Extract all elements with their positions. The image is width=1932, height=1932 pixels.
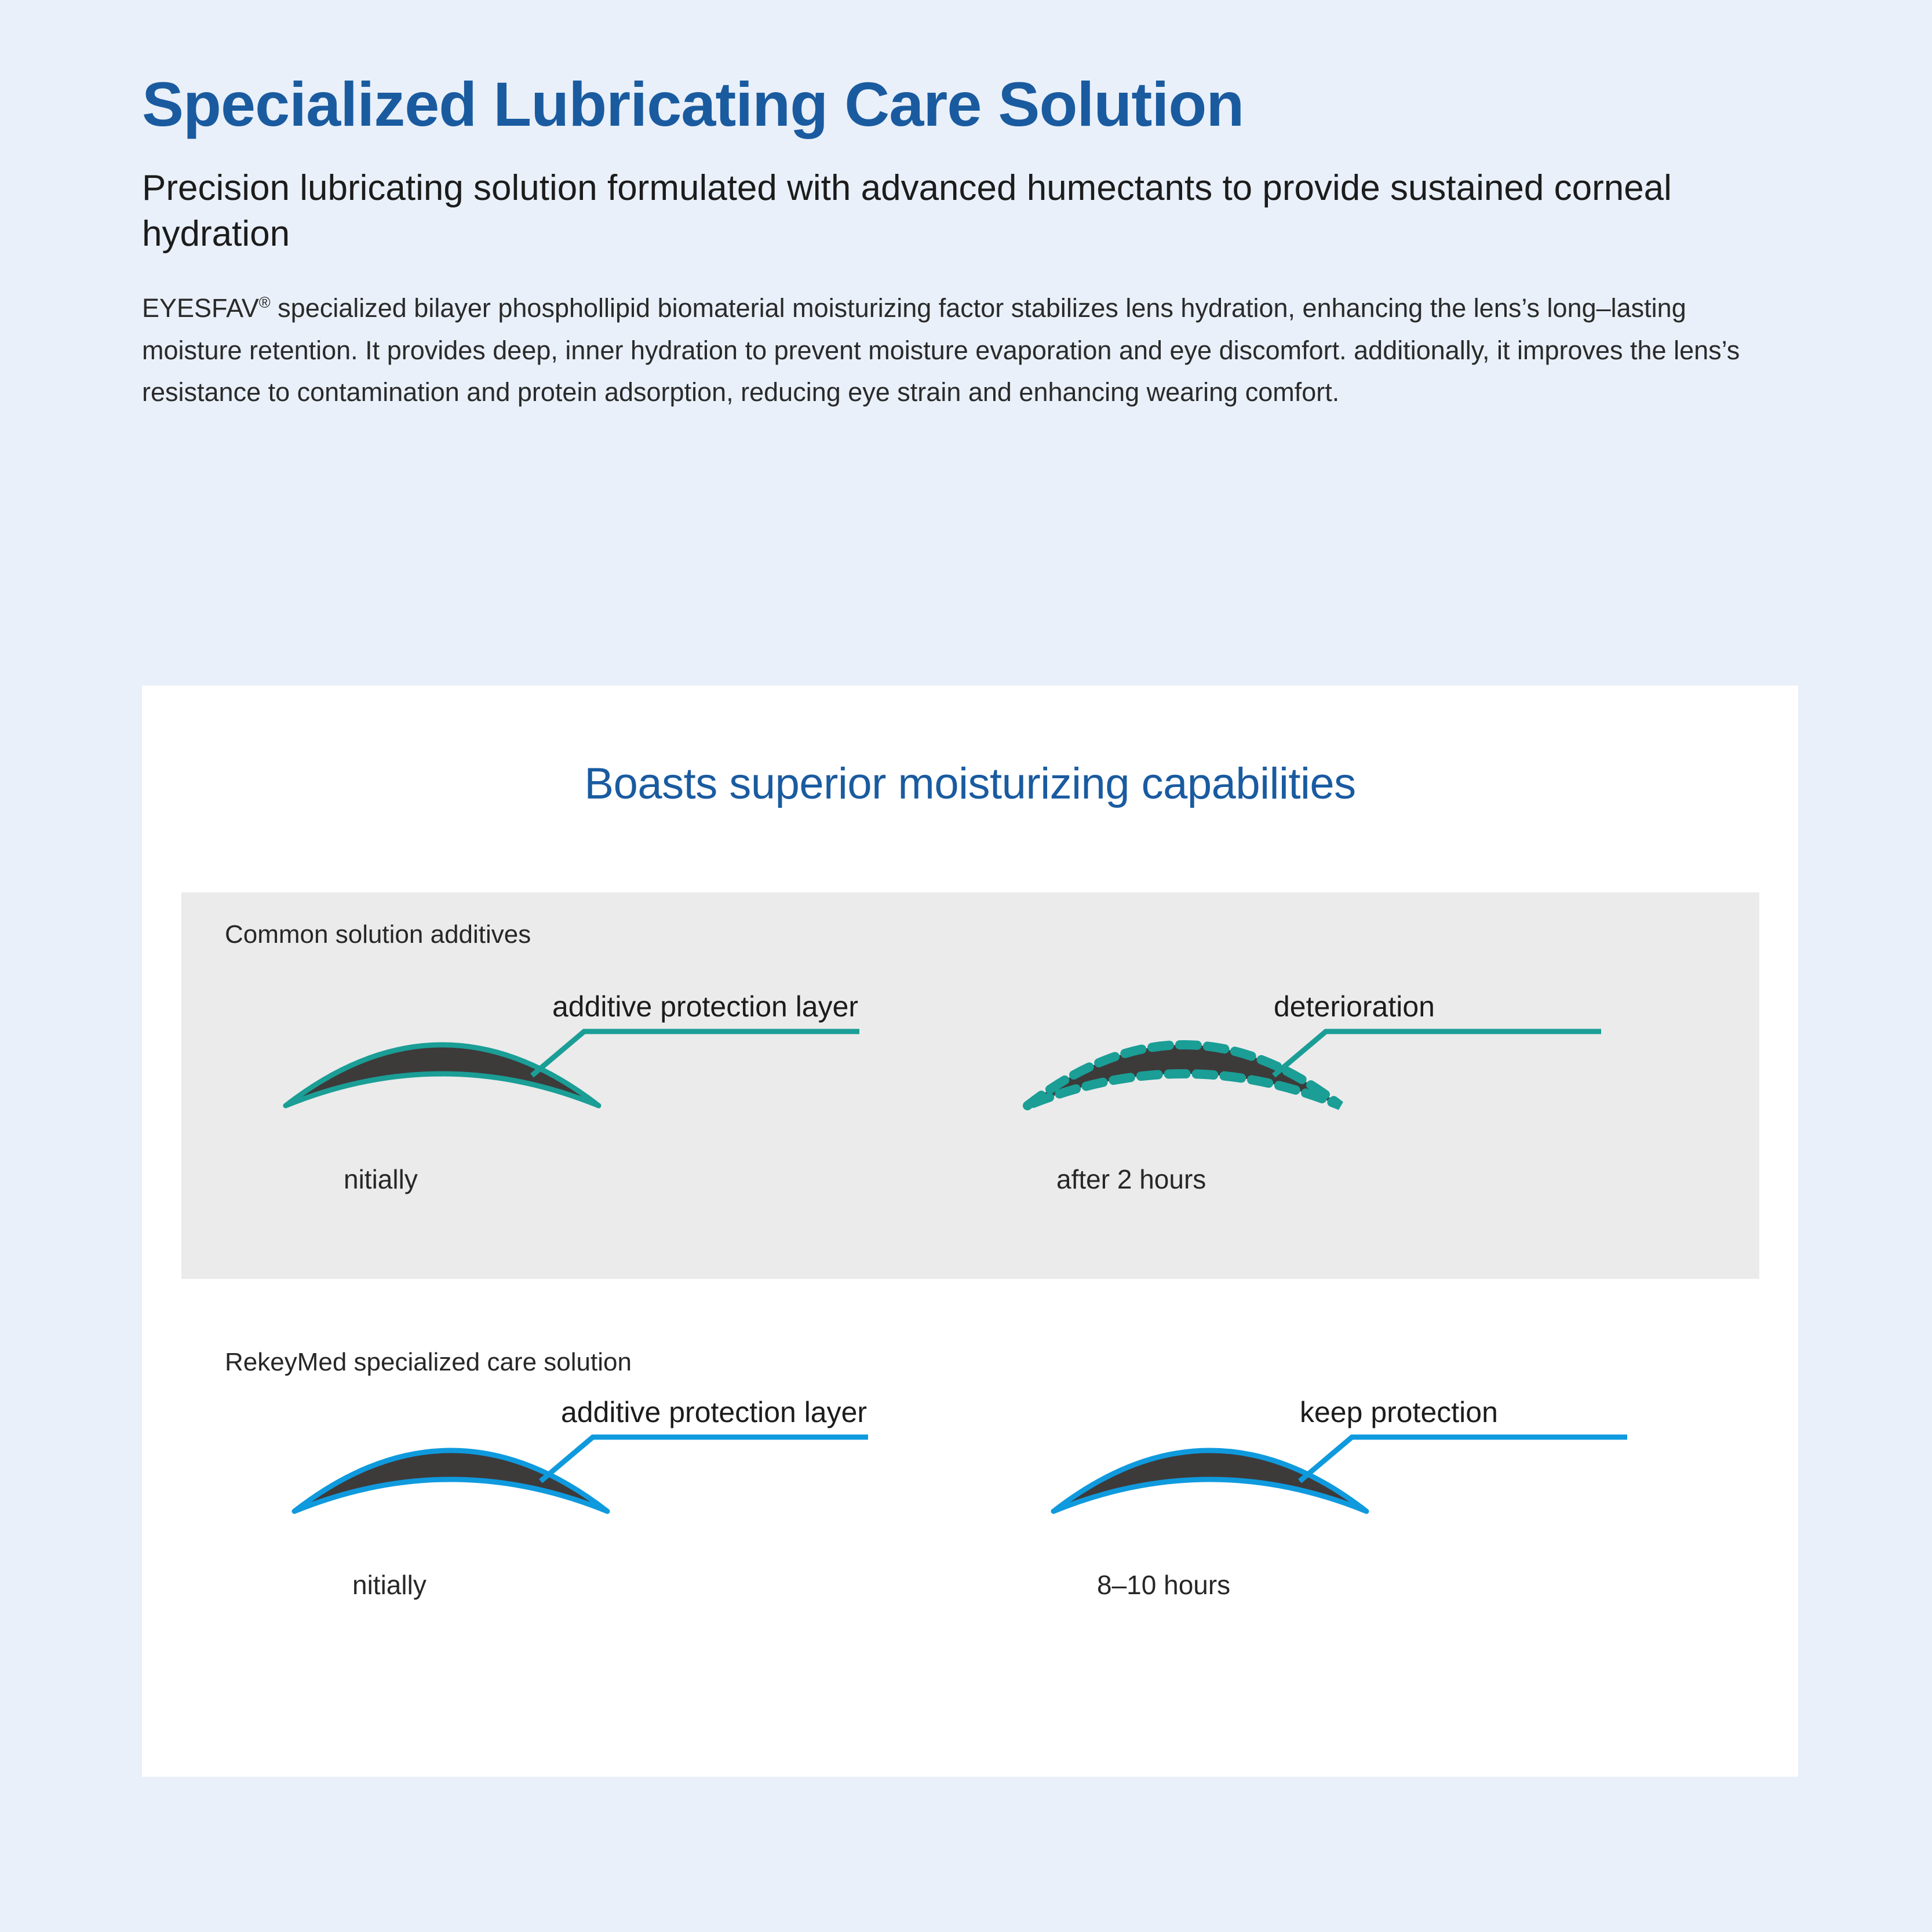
- page-subtitle: Precision lubricating solution formulate…: [142, 165, 1782, 257]
- leader-line: [541, 1437, 868, 1481]
- caption-label: 8–10 hours: [1097, 1569, 1230, 1601]
- lens-figure-rekeymed-initial: additive protection layer nitially: [277, 1395, 943, 1668]
- card-title: Boasts superior moisturizing capabilitie…: [142, 759, 1798, 809]
- lens-figure-common-initial: additive protection layer nitially: [268, 990, 935, 1262]
- brand-name: EYESFAV: [142, 293, 259, 323]
- panel-label: RekeyMed specialized care solution: [225, 1348, 632, 1377]
- lens-shape: [294, 1450, 607, 1511]
- lens-diagram-icon: [277, 1395, 943, 1668]
- caption-label: nitially: [344, 1164, 418, 1195]
- registered-mark-icon: ®: [259, 294, 271, 311]
- lens-diagram-icon: [268, 990, 935, 1262]
- panel-label: Common solution additives: [225, 920, 531, 949]
- panel-rekeymed-solution: RekeyMed specialized care solution addit…: [181, 1320, 1759, 1707]
- lens-figure-rekeymed-8-10-hours: keep protection 8–10 hours: [1036, 1395, 1703, 1668]
- lens-diagram-icon: [1036, 1395, 1703, 1668]
- lens-shape: [1054, 1450, 1366, 1511]
- leader-line: [1274, 1031, 1601, 1076]
- page-body-paragraph: EYESFAV® specialized bilayer phosphollip…: [142, 287, 1782, 414]
- callout-label: deterioration: [1274, 990, 1435, 1023]
- panel-common-additives: Common solution additives additive prote…: [181, 892, 1759, 1279]
- leader-line: [1300, 1437, 1627, 1481]
- callout-label: additive protection layer: [552, 990, 858, 1023]
- caption-label: nitially: [352, 1569, 427, 1601]
- lens-diagram-icon: [1010, 990, 1676, 1262]
- callout-label: keep protection: [1300, 1395, 1498, 1429]
- page-title: Specialized Lubricating Care Solution: [142, 70, 1805, 140]
- lens-figure-common-after-2-hours: deterioration after 2 hours: [1010, 990, 1676, 1262]
- body-text: specialized bilayer phosphollipid biomat…: [142, 293, 1740, 407]
- lens-shape-deteriorated: [1027, 1045, 1340, 1106]
- lens-shape: [286, 1045, 599, 1106]
- header-block: Specialized Lubricating Care Solution Pr…: [142, 70, 1805, 414]
- callout-label: additive protection layer: [561, 1395, 867, 1429]
- comparison-card: Boasts superior moisturizing capabilitie…: [142, 686, 1798, 1777]
- leader-line: [532, 1031, 859, 1076]
- caption-label: after 2 hours: [1056, 1164, 1206, 1195]
